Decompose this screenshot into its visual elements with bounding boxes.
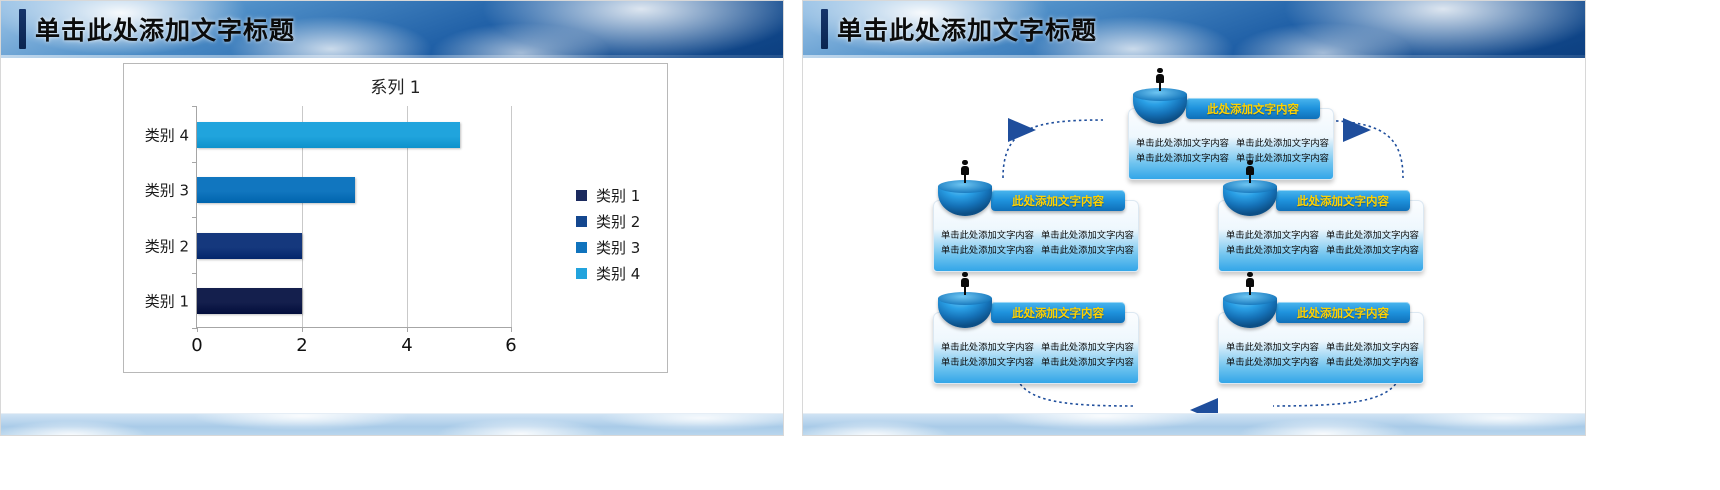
x-axis-tick-0: 0	[191, 335, 202, 356]
slide-chart[interactable]: 单击此处添加文字标题 系列 1	[0, 0, 784, 436]
person-legs-icon	[1249, 286, 1251, 295]
node-header-middle-left[interactable]: 此处添加文字内容	[991, 190, 1125, 211]
legend-label-cat-1: 类别 1	[596, 185, 640, 206]
node-line: 单击此处添加文字内容	[941, 229, 1034, 243]
node-body-bottom-left: 单击此处添加文字内容 单击此处添加文字内容 单击此处添加文字内容 单击此处添加文…	[941, 339, 1131, 370]
x-axis-tick-6: 6	[505, 335, 516, 356]
arrow-head-bottom	[1190, 398, 1218, 413]
legend-item-cat-1[interactable]: 类别 1	[576, 182, 640, 208]
legend-swatch-cat-2	[576, 216, 587, 227]
x-axis-tick-4: 4	[401, 335, 412, 356]
node-line: 单击此处添加文字内容	[1226, 244, 1319, 258]
slide-footer-diagram	[803, 413, 1585, 436]
legend-swatch-cat-3	[576, 242, 587, 253]
node-header-top[interactable]: 此处添加文字内容	[1186, 98, 1320, 119]
y-tick-3	[192, 273, 197, 274]
legend-item-cat-3[interactable]: 类别 3	[576, 234, 640, 260]
person-head-icon	[962, 160, 967, 165]
legend-label-cat-2: 类别 2	[596, 211, 640, 232]
node-line: 单击此处添加文字内容	[1226, 341, 1319, 355]
node-line: 单击此处添加文字内容	[1041, 356, 1134, 370]
node-line: 单击此处添加文字内容	[1136, 152, 1229, 166]
y-axis-label-cat-1: 类别 1	[145, 291, 189, 312]
legend-item-cat-2[interactable]: 类别 2	[576, 208, 640, 234]
slide-diagram[interactable]: 单击此处添加文字标题	[802, 0, 1586, 436]
arrow-head-right-top	[1343, 118, 1371, 142]
node-header-middle-right[interactable]: 此处添加文字内容	[1276, 190, 1410, 211]
slide-deck: 单击此处添加文字标题 系列 1	[0, 0, 1720, 490]
node-line: 单击此处添加文字内容	[941, 341, 1034, 355]
x-tick-6	[511, 327, 512, 332]
x-tick-0	[197, 327, 198, 332]
legend-swatch-cat-4	[576, 268, 587, 279]
node-line: 单击此处添加文字内容	[1326, 341, 1419, 355]
node-line: 单击此处添加文字内容	[1041, 341, 1134, 355]
person-legs-icon	[1159, 82, 1161, 91]
title-accent-bar	[19, 9, 26, 49]
gridline-6	[511, 106, 512, 327]
bar-cat-1[interactable]	[197, 288, 302, 314]
x-tick-2	[302, 327, 303, 332]
legend-swatch-cat-1	[576, 190, 587, 201]
node-header-bottom-right[interactable]: 此处添加文字内容	[1276, 302, 1410, 323]
person-legs-icon	[1249, 174, 1251, 183]
slide-body-chart: 系列 1	[1, 58, 783, 413]
slide-body-diagram: 单击此处添加文字内容 单击此处添加文字内容 单击此处添加文字内容 单击此处添加文…	[803, 58, 1585, 413]
node-line: 单击此处添加文字内容	[1136, 137, 1229, 151]
person-head-icon	[1247, 272, 1252, 277]
node-body-top: 单击此处添加文字内容 单击此处添加文字内容 单击此处添加文字内容 单击此处添加文…	[1136, 135, 1326, 166]
y-tick-0	[192, 106, 197, 107]
link-left-up	[1003, 120, 1103, 178]
node-line: 单击此处添加文字内容	[1041, 229, 1134, 243]
arrow-head-left-top	[1008, 118, 1036, 142]
person-legs-icon	[964, 174, 966, 183]
node-line: 单击此处添加文字内容	[1326, 229, 1419, 243]
legend-item-cat-4[interactable]: 类别 4	[576, 260, 640, 286]
node-line: 单击此处添加文字内容	[1226, 229, 1319, 243]
node-line: 单击此处添加文字内容	[941, 356, 1034, 370]
y-axis-label-cat-4: 类别 4	[145, 124, 189, 145]
slide-gap	[784, 0, 802, 490]
node-body-middle-right: 单击此处添加文字内容 单击此处添加文字内容 单击此处添加文字内容 单击此处添加文…	[1226, 227, 1416, 258]
x-axis-tick-2: 2	[296, 335, 307, 356]
chart-plot-area: 类别 1 类别 2 类别 3 类别 4 0 2 4 6	[196, 106, 511, 328]
node-line: 单击此处添加文字内容	[1041, 244, 1134, 258]
node-header-bottom-left[interactable]: 此处添加文字内容	[991, 302, 1125, 323]
node-line: 单击此处添加文字内容	[1326, 356, 1419, 370]
person-head-icon	[962, 272, 967, 277]
page-title-2: 单击此处添加文字标题	[837, 11, 1097, 47]
person-head-icon	[1157, 68, 1162, 73]
node-line: 单击此处添加文字内容	[1226, 356, 1319, 370]
legend-label-cat-4: 类别 4	[596, 263, 640, 284]
bar-cat-3[interactable]	[197, 177, 355, 203]
x-tick-4	[407, 327, 408, 332]
person-legs-icon	[964, 286, 966, 295]
legend-label-cat-3: 类别 3	[596, 237, 640, 258]
bar-cat-2[interactable]	[197, 233, 302, 259]
bar-chart[interactable]: 系列 1	[123, 63, 668, 373]
y-axis-label-cat-2: 类别 2	[145, 235, 189, 256]
node-body-bottom-right: 单击此处添加文字内容 单击此处添加文字内容 单击此处添加文字内容 单击此处添加文…	[1226, 339, 1416, 370]
y-axis-label-cat-3: 类别 3	[145, 180, 189, 201]
slide-header-chart: 单击此处添加文字标题	[1, 1, 783, 58]
y-tick-1	[192, 162, 197, 163]
chart-legend: 类别 1 类别 2 类别 3 类别 4	[576, 182, 640, 286]
slide-header-diagram: 单击此处添加文字标题	[803, 1, 1585, 58]
title-accent-bar-2	[821, 9, 828, 49]
node-line: 单击此处添加文字内容	[1236, 137, 1329, 151]
node-line: 单击此处添加文字内容	[1326, 244, 1419, 258]
bar-cat-4[interactable]	[197, 122, 460, 148]
node-body-middle-left: 单击此处添加文字内容 单击此处添加文字内容 单击此处添加文字内容 单击此处添加文…	[941, 227, 1131, 258]
node-line: 单击此处添加文字内容	[941, 244, 1034, 258]
page-title: 单击此处添加文字标题	[35, 11, 295, 47]
chart-title: 系列 1	[124, 73, 667, 98]
slide-footer-chart	[1, 413, 783, 436]
y-tick-2	[192, 217, 197, 218]
cycle-diagram: 单击此处添加文字内容 单击此处添加文字内容 单击此处添加文字内容 单击此处添加文…	[803, 58, 1585, 413]
